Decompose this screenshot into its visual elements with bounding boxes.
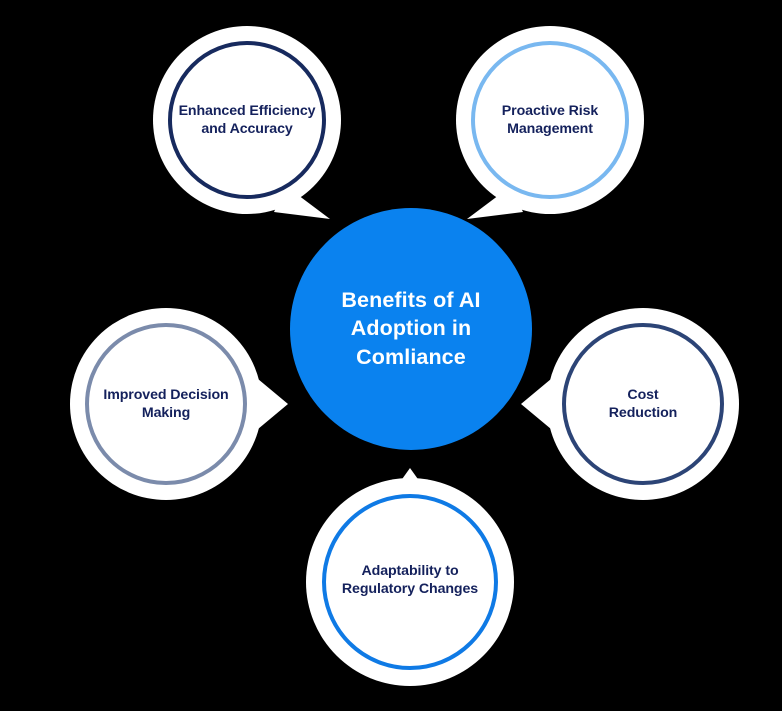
node-benefits-hub[interactable] xyxy=(290,208,532,450)
bubble-adaptability xyxy=(306,478,514,686)
node-cost-reduction[interactable] xyxy=(521,308,739,500)
diagram-canvas: Enhanced Efficiency and Accuracy Proacti… xyxy=(0,0,782,711)
node-proactive-risk-management[interactable] xyxy=(456,26,644,219)
hub-circle xyxy=(290,208,532,450)
radial-diagram-graphic xyxy=(0,0,782,711)
bubble-enhanced-efficiency xyxy=(153,26,341,214)
node-adaptability-regulatory-changes[interactable] xyxy=(306,468,514,686)
bubble-cost-reduction xyxy=(547,308,739,500)
bubble-proactive-risk xyxy=(456,26,644,214)
node-enhanced-efficiency[interactable] xyxy=(153,26,341,219)
bubble-improved-decision xyxy=(70,308,262,500)
node-improved-decision-making[interactable] xyxy=(70,308,288,500)
